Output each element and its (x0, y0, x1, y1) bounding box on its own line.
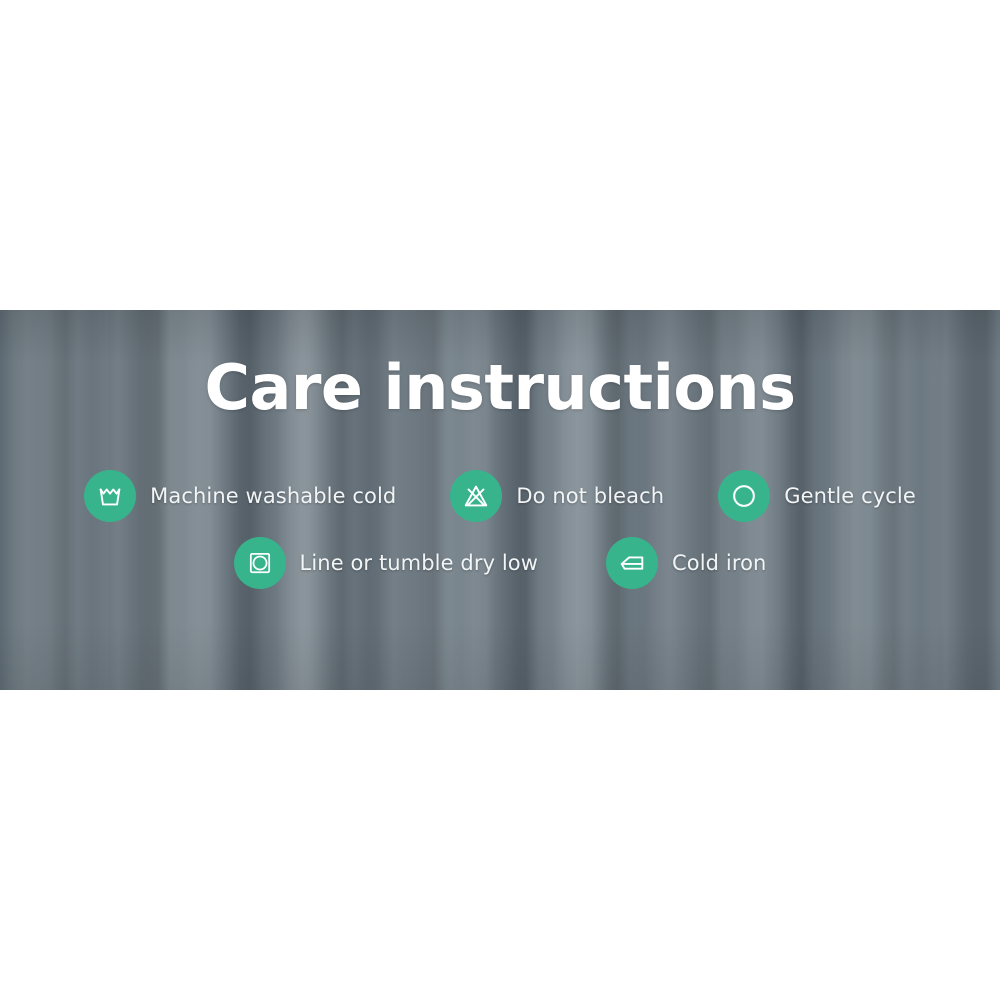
wash-tub-icon (84, 470, 136, 522)
care-item-line-or-tumble-dry-low: Line or tumble dry low (234, 537, 538, 589)
care-item-label: Cold iron (672, 551, 766, 575)
tumble-dry-square-icon (234, 537, 286, 589)
care-item-label: Line or tumble dry low (300, 551, 538, 575)
gentle-cycle-circle-icon (718, 470, 770, 522)
do-not-bleach-triangle-icon (450, 470, 502, 522)
care-item-do-not-bleach: Do not bleach (450, 470, 664, 522)
care-symbol-list: Machine washable cold Do not bleach (0, 470, 1000, 589)
iron-icon (606, 537, 658, 589)
care-item-label: Gentle cycle (784, 484, 916, 508)
care-item-gentle-cycle: Gentle cycle (718, 470, 916, 522)
care-item-machine-washable-cold: Machine washable cold (84, 470, 396, 522)
care-item-label: Do not bleach (516, 484, 664, 508)
care-item-label: Machine washable cold (150, 484, 396, 508)
page-title: Care instructions (0, 357, 1000, 419)
care-item-cold-iron: Cold iron (606, 537, 766, 589)
care-row: Machine washable cold Do not bleach (0, 470, 1000, 522)
page-root: Care instructions Machine washable cold (0, 0, 1000, 1000)
care-row: Line or tumble dry low Cold iron (0, 537, 1000, 589)
